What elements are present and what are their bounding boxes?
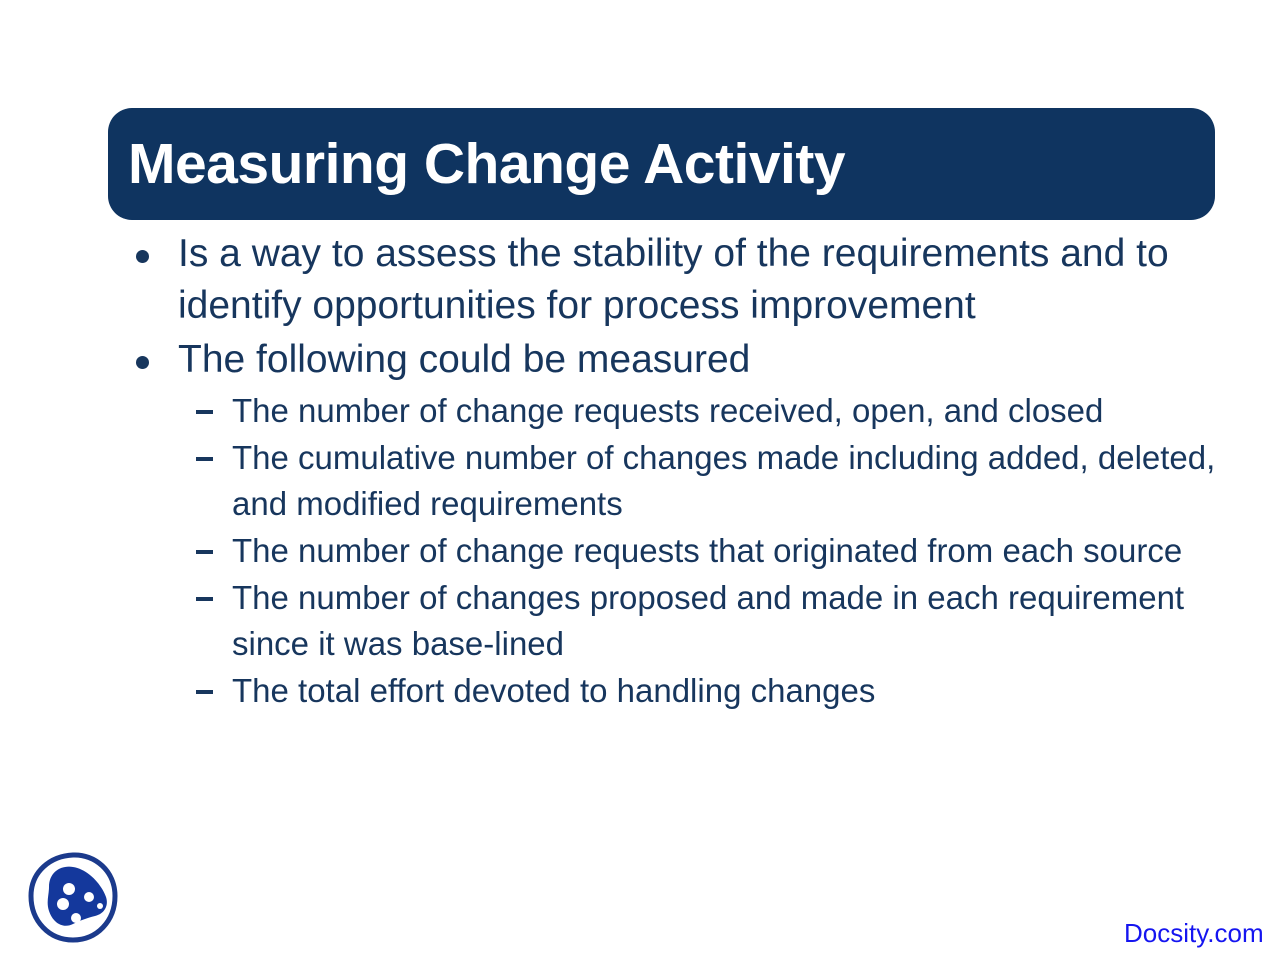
- list-item: The total effort devoted to handling cha…: [108, 668, 1238, 714]
- bullet-list-level1: Is a way to assess the stability of the …: [108, 228, 1238, 386]
- sub-bullet-text: The cumulative number of changes made in…: [232, 435, 1238, 527]
- footer-watermark: Docsity.com: [1124, 918, 1264, 948]
- list-item: Is a way to assess the stability of the …: [108, 228, 1238, 332]
- list-item: The number of change requests that origi…: [108, 528, 1238, 574]
- page-title: Measuring Change Activity: [128, 136, 845, 193]
- sub-bullet-text: The number of changes proposed and made …: [232, 575, 1238, 667]
- sub-bullet-text: The number of change requests that origi…: [232, 528, 1238, 574]
- bullet-list-level2: The number of change requests received, …: [108, 388, 1238, 714]
- slide-title-bar: Measuring Change Activity: [108, 108, 1215, 220]
- bullet-dash-icon: [196, 410, 213, 414]
- sub-bullet-text: The number of change requests received, …: [232, 388, 1238, 434]
- list-item: The number of changes proposed and made …: [108, 575, 1238, 667]
- sub-bullet-text: The total effort devoted to handling cha…: [232, 668, 1238, 714]
- slide-canvas: Measuring Change Activity Is a way to as…: [0, 0, 1280, 960]
- bullet-dot-icon: [136, 250, 149, 263]
- bullet-dot-icon: [136, 356, 149, 369]
- bullet-text: The following could be measured: [178, 334, 1238, 386]
- bullet-dash-icon: [196, 690, 213, 694]
- bullet-text: Is a way to assess the stability of the …: [178, 228, 1238, 332]
- bullet-dash-icon: [196, 550, 213, 554]
- list-item: The number of change requests received, …: [108, 388, 1238, 434]
- bullet-dash-icon: [196, 457, 213, 461]
- list-item: The cumulative number of changes made in…: [108, 435, 1238, 527]
- bullet-dash-icon: [196, 597, 213, 601]
- slide-body: Is a way to assess the stability of the …: [108, 228, 1238, 715]
- list-item: The following could be measured: [108, 334, 1238, 386]
- docsity-logo-icon: [27, 851, 119, 943]
